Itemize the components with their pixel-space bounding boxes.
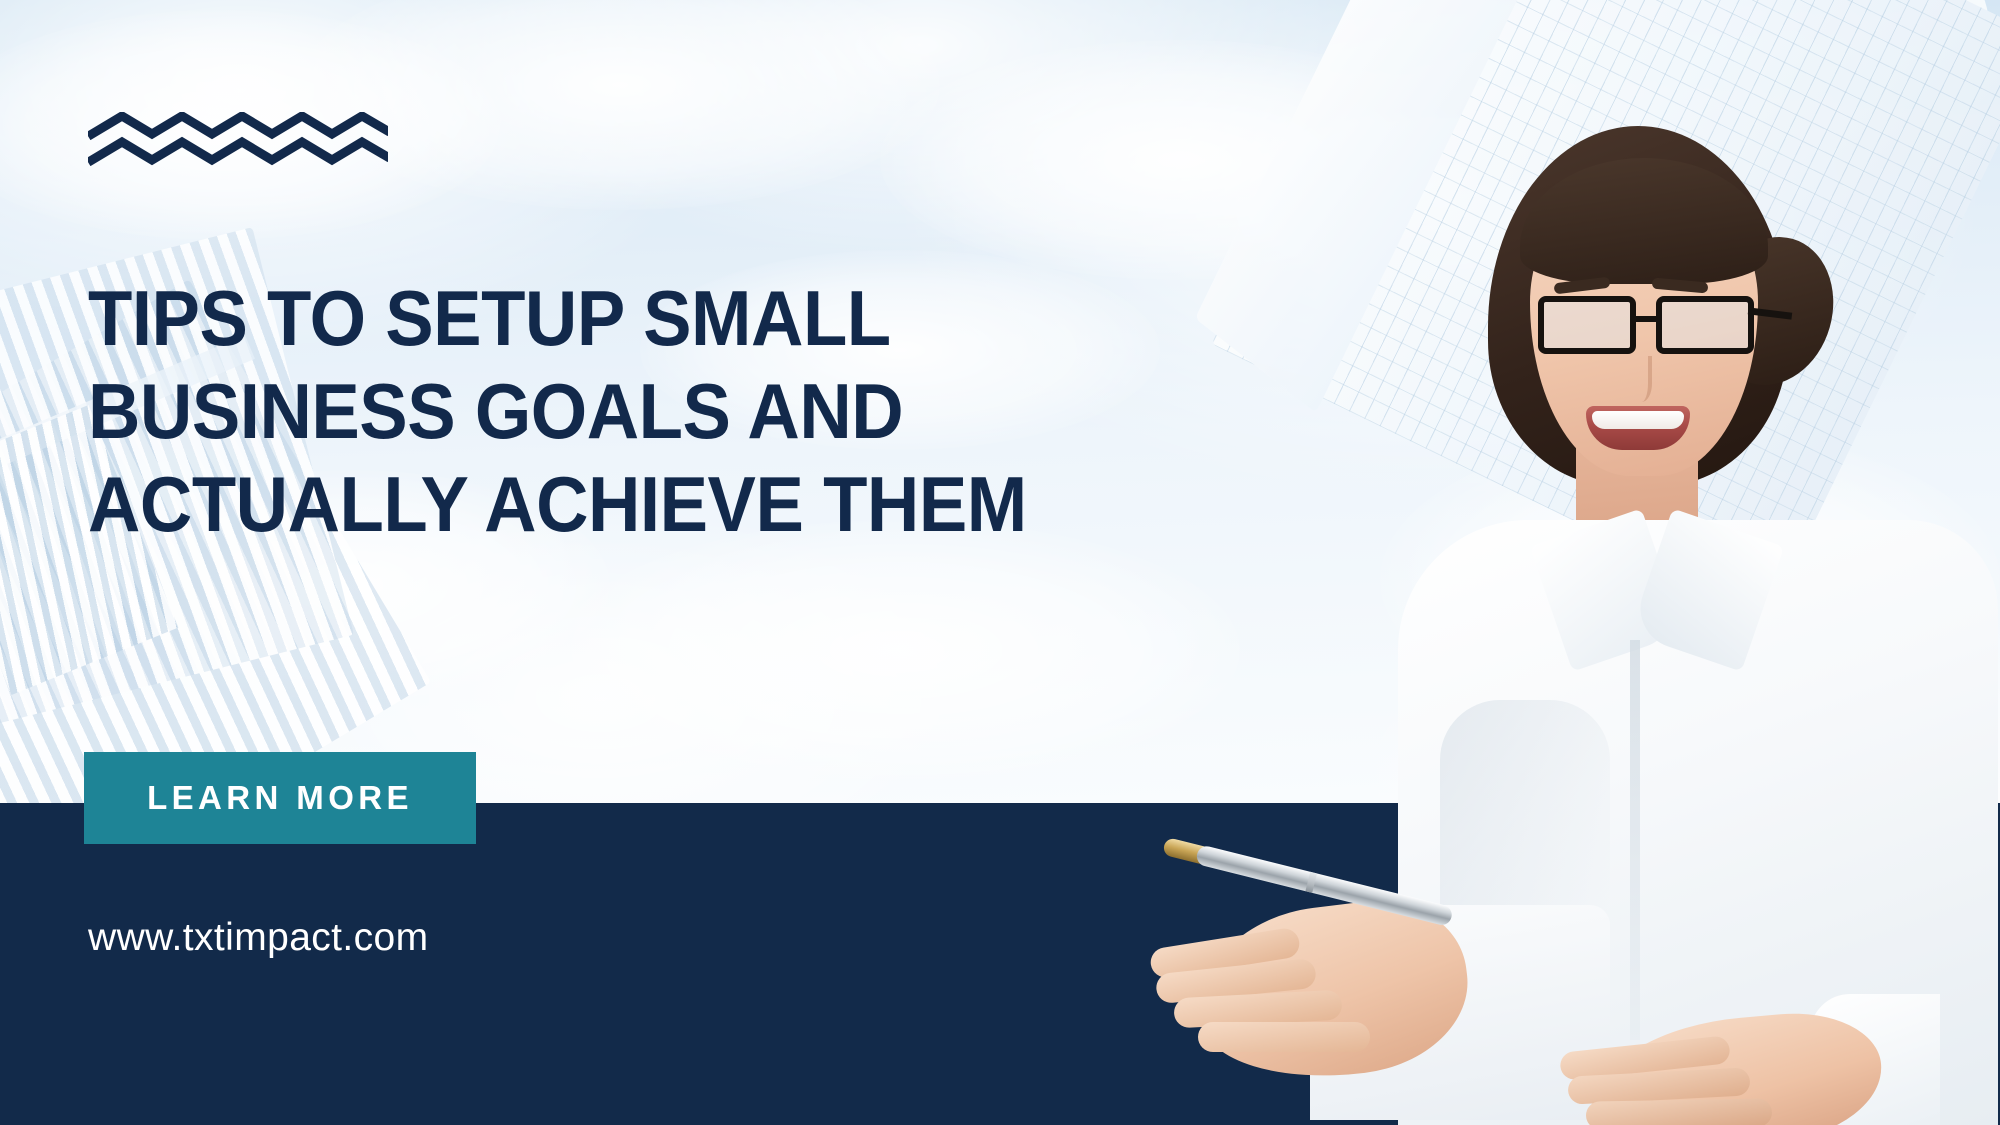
smiling-mouth	[1586, 406, 1690, 450]
headline-line-3: ACTUALLY ACHIEVE THEM	[88, 458, 1185, 551]
nose	[1626, 356, 1652, 402]
headline-line-1: TIPS TO SETUP SMALL	[88, 272, 1185, 365]
shirt-placket	[1630, 640, 1640, 1040]
glasses-bridge	[1636, 316, 1658, 322]
marketing-banner: TIPS TO SETUP SMALL BUSINESS GOALS AND A…	[0, 0, 2000, 1125]
headline-line-2: BUSINESS GOALS AND	[88, 365, 1185, 458]
presenting-hand	[1560, 1000, 1900, 1125]
teeth	[1592, 411, 1684, 429]
finger	[1586, 1098, 1772, 1125]
website-url: www.txtimpact.com	[88, 916, 429, 960]
zigzag-divider-icon	[88, 112, 388, 168]
eyeglasses-icon	[1530, 296, 1766, 362]
finger	[1198, 1022, 1370, 1052]
learn-more-button[interactable]: LEARN MORE	[84, 752, 476, 844]
lens-left	[1538, 296, 1636, 354]
page-title: TIPS TO SETUP SMALL BUSINESS GOALS AND A…	[88, 272, 1185, 550]
lens-right	[1656, 296, 1754, 354]
